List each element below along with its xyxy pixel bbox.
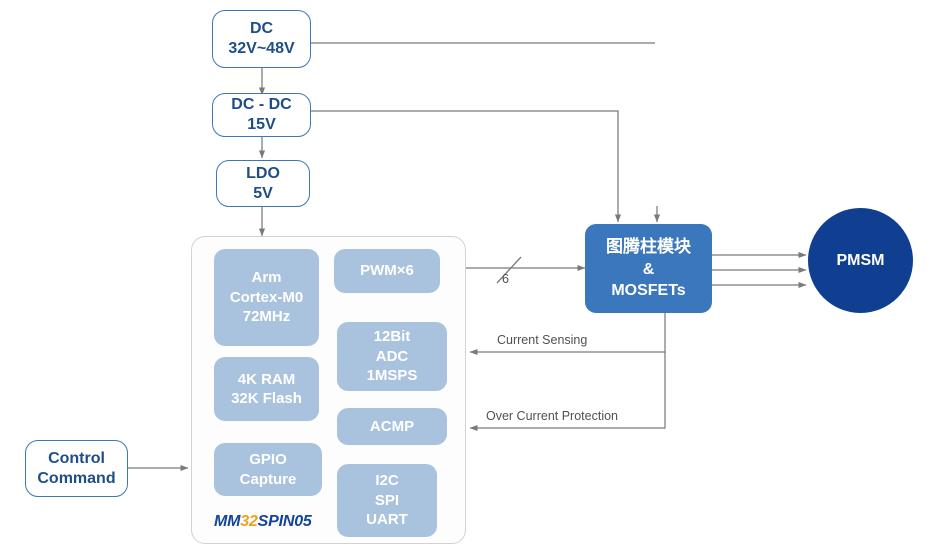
control-command-block[interactable]: Control Command: [25, 440, 128, 497]
logo-part-a: MM: [214, 513, 240, 530]
dc-dc-line1: DC - DC: [231, 95, 291, 115]
memory-line1: 4K RAM: [238, 370, 296, 390]
gpio-line2: Capture: [240, 470, 297, 490]
mcu-block-adc[interactable]: 12Bit ADC 1MSPS: [337, 322, 447, 391]
control-command-line2: Command: [37, 469, 115, 489]
comms-line3: UART: [366, 510, 408, 530]
block-diagram-canvas: DC 32V~48V DC - DC 15V LDO 5V Control Co…: [0, 0, 938, 555]
pmsm-motor-node[interactable]: PMSM: [808, 208, 913, 313]
mcu-block-cpu-core[interactable]: Arm Cortex-M0 72MHz: [214, 249, 319, 346]
ldo-line2: 5V: [253, 184, 273, 204]
mcu-block-memory[interactable]: 4K RAM 32K Flash: [214, 357, 319, 421]
cpu-core-line2: Cortex-M0: [230, 288, 303, 308]
adc-line2: ADC: [376, 347, 409, 367]
mcu-block-gpio-capture[interactable]: GPIO Capture: [214, 443, 322, 496]
mm32spin05-logo: MM32SPIN05: [214, 513, 312, 531]
mcu-block-comms[interactable]: I2C SPI UART: [337, 464, 437, 537]
bridge-line3: MOSFETs: [611, 280, 685, 301]
adc-line1: 12Bit: [374, 327, 411, 347]
acmp-line1: ACMP: [370, 417, 414, 437]
ldo-regulator-block[interactable]: LDO 5V: [216, 160, 310, 207]
dc-dc-line2: 15V: [247, 115, 275, 135]
pwm-bus-width-label: 6: [502, 272, 509, 286]
connector-layer: [0, 0, 938, 555]
gpio-line1: GPIO: [249, 450, 287, 470]
wire-dcdc-to-bridge: [311, 111, 618, 222]
current-sensing-label: Current Sensing: [497, 333, 587, 347]
dc-source-block[interactable]: DC 32V~48V: [212, 10, 311, 68]
dc-dc-converter-block[interactable]: DC - DC 15V: [212, 93, 311, 137]
dc-source-line1: DC: [250, 19, 273, 39]
cpu-core-line3: 72MHz: [243, 307, 291, 327]
comms-line2: SPI: [375, 491, 399, 511]
memory-line2: 32K Flash: [231, 389, 302, 409]
logo-part-c: SPIN05: [258, 513, 312, 530]
adc-line3: 1MSPS: [367, 366, 418, 386]
pmsm-label: PMSM: [837, 252, 885, 270]
pwm-line1: PWM×6: [360, 261, 414, 281]
ldo-line1: LDO: [246, 164, 280, 184]
bus-slash-tick: [497, 257, 521, 283]
mcu-block-pwm[interactable]: PWM×6: [334, 249, 440, 293]
logo-part-b: 32: [240, 513, 257, 530]
dc-source-line2: 32V~48V: [228, 39, 294, 59]
cpu-core-line1: Arm: [251, 268, 281, 288]
control-command-line1: Control: [48, 449, 105, 469]
comms-line1: I2C: [375, 471, 398, 491]
bridge-line1: 图腾柱模块: [606, 236, 691, 258]
over-current-protection-label: Over Current Protection: [486, 409, 618, 423]
bridge-line2: &: [643, 259, 655, 280]
totem-pole-mosfet-block[interactable]: 图腾柱模块 & MOSFETs: [585, 224, 712, 313]
mcu-block-acmp[interactable]: ACMP: [337, 408, 447, 445]
